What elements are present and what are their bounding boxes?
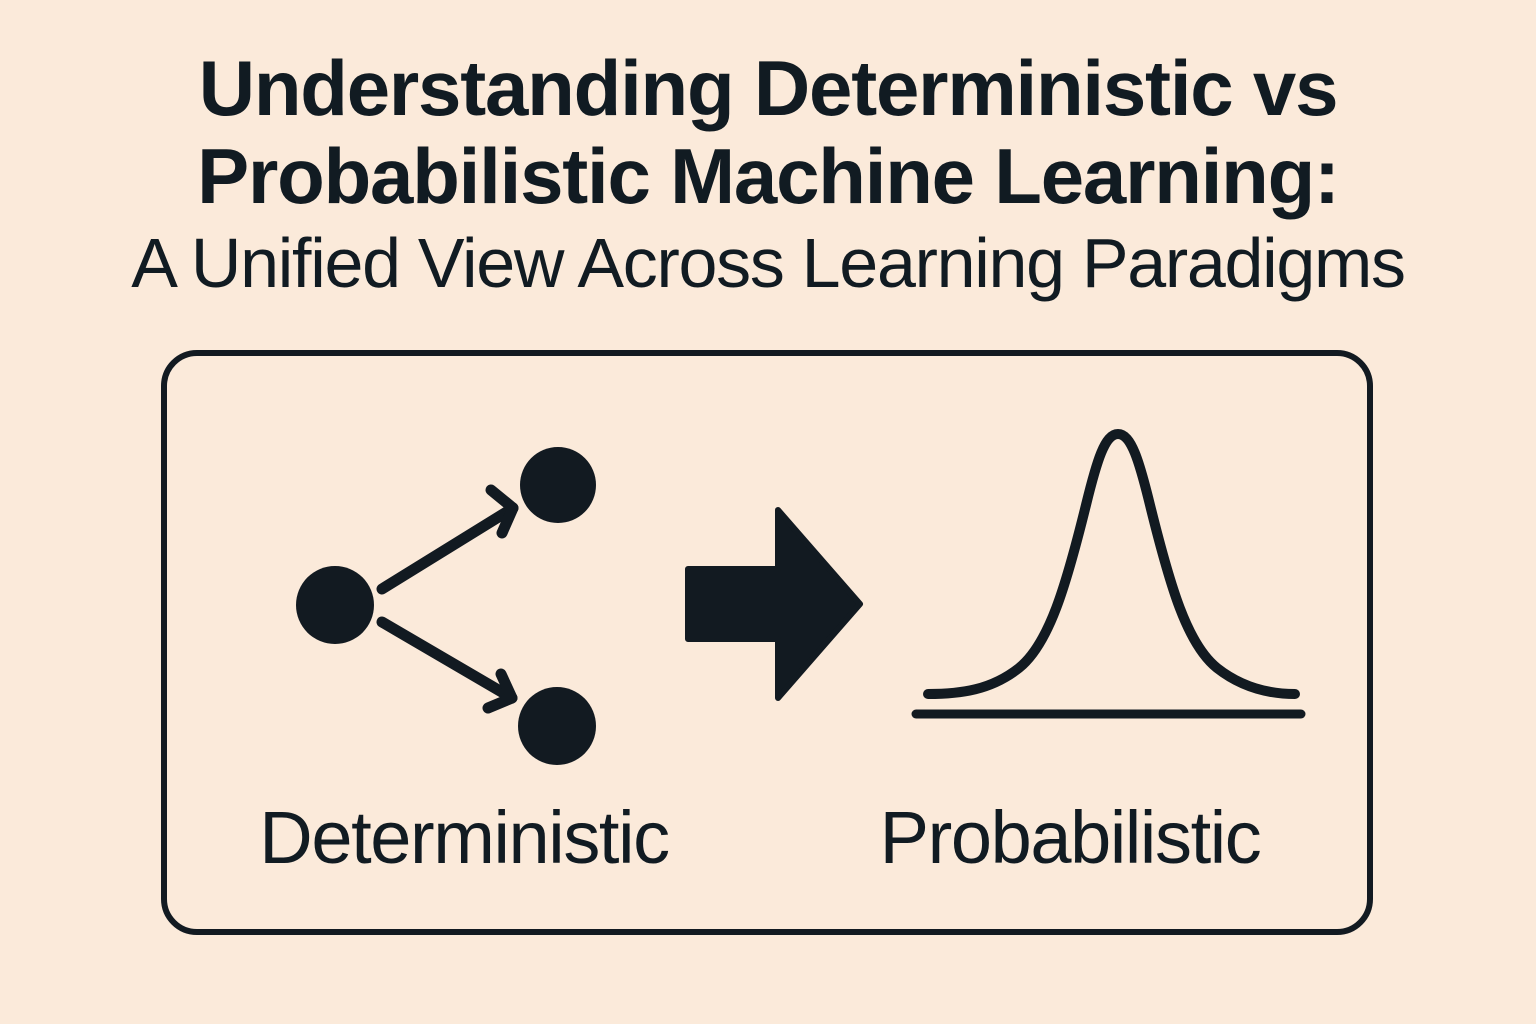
bell-curve-icon [916,434,1301,714]
title-line-1: Understanding Deterministic vs [0,44,1536,132]
edge-to-upper-node [382,508,513,589]
source-node [296,566,374,644]
caption-probabilistic: Probabilistic [767,795,1373,880]
target-node-lower [518,687,596,765]
title-line-3: A Unified View Across Learning Paradigms [0,220,1536,306]
transition-arrow-shape [688,510,860,698]
caption-deterministic: Deterministic [161,795,767,880]
edge-to-lower-node [382,622,512,698]
gaussian-curve [928,434,1295,694]
poster-canvas: Understanding Deterministic vs Probabili… [0,0,1536,1024]
title-line-2: Probabilistic Machine Learning: [0,132,1536,220]
block-right-arrow-icon [688,510,860,698]
deterministic-graph-icon [296,447,596,765]
target-node-upper [520,447,596,523]
page-title: Understanding Deterministic vs Probabili… [0,44,1536,306]
